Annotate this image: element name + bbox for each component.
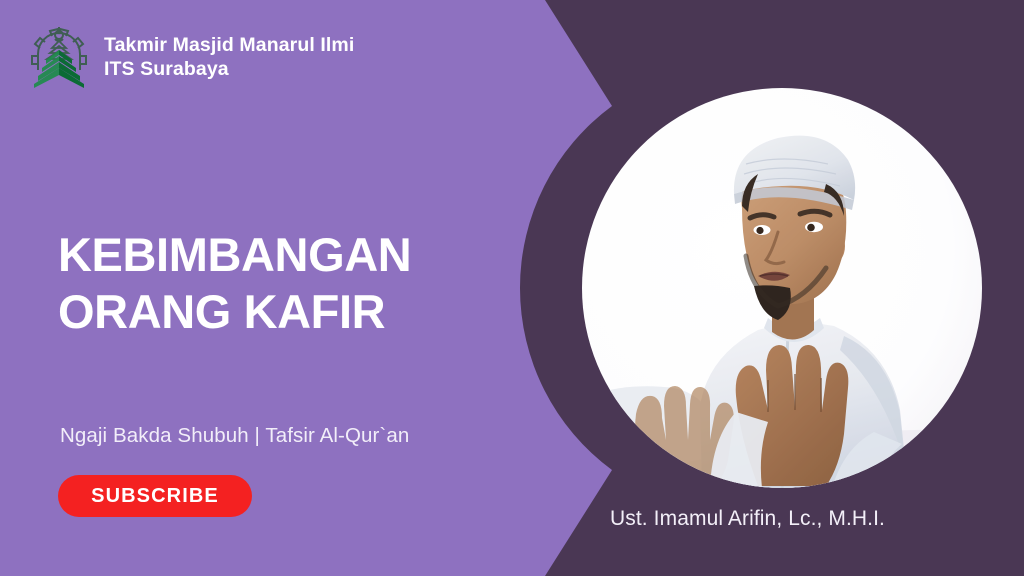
title-line-2: ORANG KAFIR — [58, 283, 528, 340]
thumbnail-canvas: Takmir Masjid Manarul Ilmi ITS Surabaya … — [0, 0, 1024, 576]
subscribe-button[interactable]: SUBSCRIBE — [58, 475, 252, 517]
speaker-portrait — [582, 88, 982, 488]
speaker-name-caption: Ust. Imamul Arifin, Lc., M.H.I. — [610, 507, 885, 531]
its-mosque-gear-logo-icon — [28, 26, 90, 90]
brand-name: Takmir Masjid Manarul Ilmi ITS Surabaya — [104, 34, 354, 82]
portrait-illustration — [582, 88, 982, 488]
brand-header: Takmir Masjid Manarul Ilmi ITS Surabaya — [28, 26, 354, 90]
title-line-1: KEBIMBANGAN — [58, 226, 528, 283]
page-title: KEBIMBANGAN ORANG KAFIR — [58, 226, 528, 341]
subtitle-text: Ngaji Bakda Shubuh | Tafsir Al-Qur`an — [60, 424, 409, 448]
